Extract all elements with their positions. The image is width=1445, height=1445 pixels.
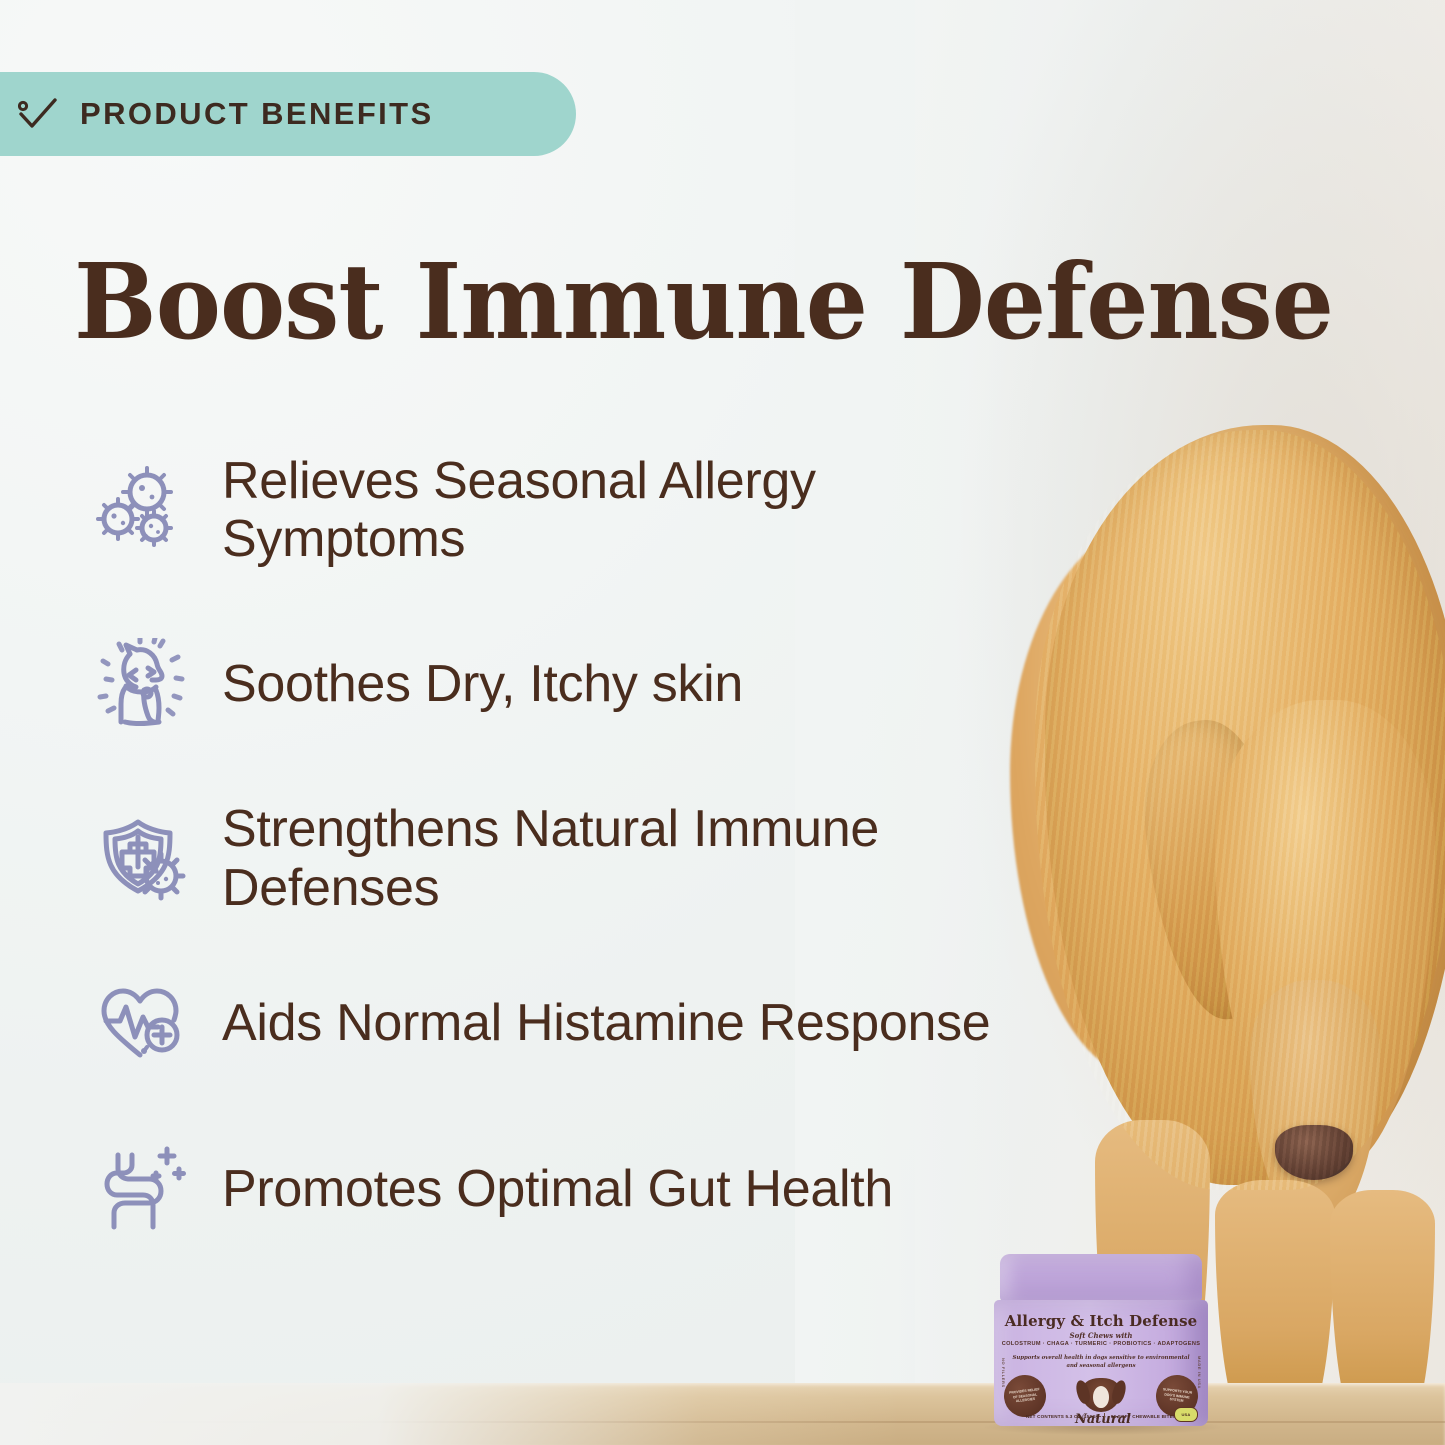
germs-icon bbox=[86, 460, 194, 560]
jar-label: Allergy & Itch Defense Soft Chews with C… bbox=[994, 1300, 1208, 1426]
benefit-label: Soothes Dry, Itchy skin bbox=[222, 655, 743, 713]
dog-face-shape bbox=[1093, 1386, 1109, 1408]
itchy-dog-icon bbox=[86, 634, 194, 734]
page-title: Boost Immune Defense bbox=[74, 248, 1287, 356]
check-icon bbox=[18, 97, 58, 131]
list-item: Relieves Seasonal Allergy Symptoms bbox=[86, 452, 1176, 568]
product-ingredients: COLOSTRUM · CHAGA · TURMERIC · PROBIOTIC… bbox=[994, 1341, 1208, 1347]
footer-divider bbox=[1104, 1413, 1105, 1420]
net-contents: NET CONTENTS 5.3 OZ (150G) bbox=[1026, 1414, 1098, 1419]
product-benefits-badge: PRODUCT BENEFITS bbox=[0, 72, 576, 156]
benefit-label: Strengthens Natural Immune Defenses bbox=[222, 800, 1062, 916]
list-item: Aids Normal Histamine Response bbox=[86, 973, 1176, 1073]
chew-count: 90 SOFT CHEWABLE BITES bbox=[1111, 1414, 1176, 1419]
product-jar: Allergy & Itch Defense Soft Chews with C… bbox=[990, 1254, 1212, 1426]
product-benefits-infographic: PRODUCT BENEFITS Boost Immune Defense bbox=[0, 0, 1445, 1445]
benefit-label: Relieves Seasonal Allergy Symptoms bbox=[222, 452, 1062, 568]
benefit-label: Promotes Optimal Gut Health bbox=[222, 1160, 893, 1218]
benefit-label: Aids Normal Histamine Response bbox=[222, 994, 990, 1052]
list-item: Promotes Optimal Gut Health bbox=[86, 1139, 1176, 1239]
usa-badge-icon: USA bbox=[1174, 1407, 1198, 1422]
list-item: Soothes Dry, Itchy skin bbox=[86, 634, 1176, 734]
benefits-list: Relieves Seasonal Allergy Symptoms bbox=[86, 452, 1176, 1305]
gut-health-icon bbox=[86, 1139, 194, 1239]
badge-label: PRODUCT BENEFITS bbox=[80, 96, 434, 132]
jar-side-text-right: MADE IN USA bbox=[1197, 1356, 1202, 1389]
jar-lid bbox=[1000, 1254, 1202, 1302]
product-title: Allergy & Itch Defense bbox=[994, 1312, 1208, 1330]
list-item: Strengthens Natural Immune Defenses bbox=[86, 800, 1176, 916]
floor-fade bbox=[0, 1383, 900, 1445]
product-subtitle: Soft Chews with bbox=[994, 1331, 1208, 1340]
jar-side-text-left: NO FILLERS bbox=[1001, 1358, 1006, 1388]
heart-pulse-icon bbox=[86, 973, 194, 1073]
product-claim: Supports overall health in dogs sensitiv… bbox=[1012, 1354, 1190, 1370]
shield-immune-icon bbox=[86, 809, 194, 909]
dog-head-logo-icon bbox=[1081, 1378, 1121, 1412]
